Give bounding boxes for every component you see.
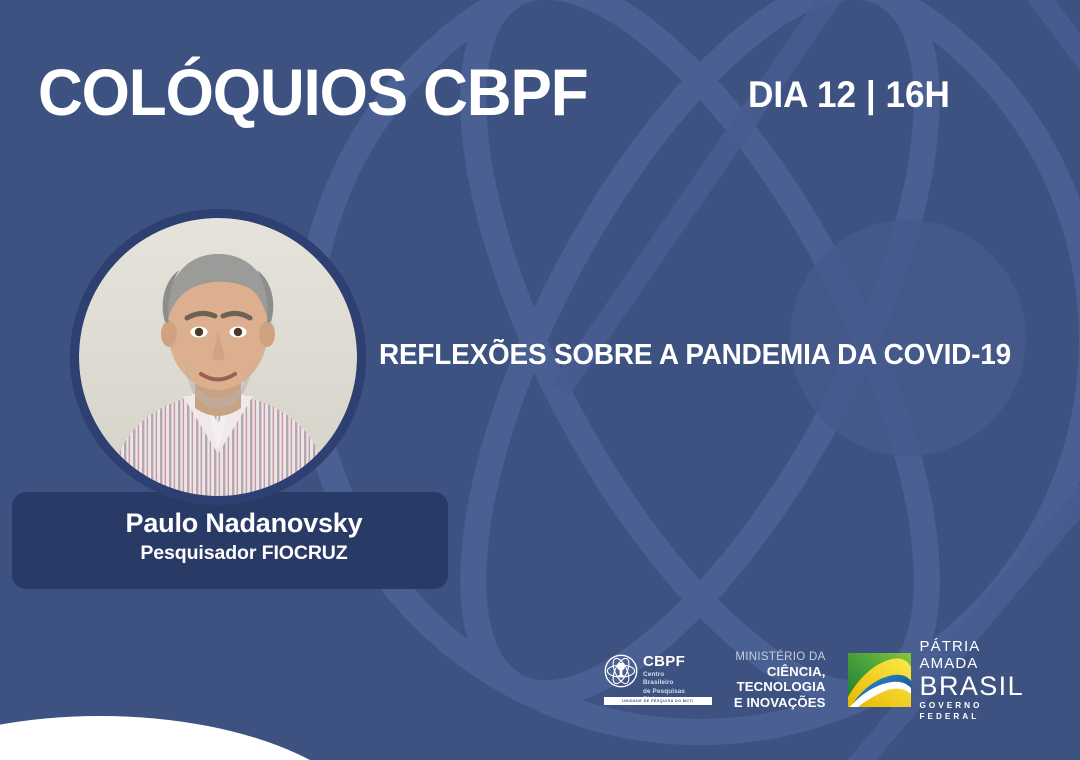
footer-logo-bar: CBPF Centro Brasileiro de Pesquisas Físi… [604,648,1024,712]
lecture-title: REFLEXÕES SOBRE A PANDEMIA DA COVID-19 [379,338,1038,372]
speaker-avatar [70,209,366,505]
brasil-government-logo: PÁTRIA AMADA BRASIL GOVERNO FEDERAL [848,651,1024,709]
cbpf-logo: CBPF Centro Brasileiro de Pesquisas Físi… [604,652,691,708]
brazil-flag-icon [848,653,911,707]
speaker-name: Paulo Nadanovsky [12,506,448,540]
brasil-line-1: PÁTRIA AMADA [920,638,1024,672]
brasil-wordmark: PÁTRIA AMADA BRASIL GOVERNO FEDERAL [920,638,1024,722]
cbpf-unit-text: UNIDADE DE PESQUISA DO MCTI [622,699,693,703]
ministry-line-3: E INOVAÇÕES [727,695,825,711]
ministry-line-1: MINISTÉRIO DA [727,650,825,664]
cbpf-wordmark: CBPF Centro Brasileiro de Pesquisas Físi… [643,652,691,703]
poster-canvas: COLÓQUIOS CBPF DIA 12 | 16H [0,0,1080,760]
page-title: COLÓQUIOS CBPF [38,56,587,128]
ministry-logo: MINISTÉRIO DA CIÊNCIA, TECNOLOGIA E INOV… [727,650,825,711]
event-date-badge: DIA 12 | 16H [748,74,950,116]
brasil-line-3: GOVERNO FEDERAL [920,700,1024,722]
brasil-line-2: BRASIL [920,672,1024,700]
avatar-ring [70,209,366,505]
speaker-name-plate: Paulo Nadanovsky Pesquisador FIOCRUZ [12,492,448,589]
bottom-curve-decoration [0,716,380,760]
header: COLÓQUIOS CBPF DIA 12 | 16H [0,0,1080,170]
cbpf-subtitle-line1: Centro Brasileiro [643,671,691,686]
poster-background: COLÓQUIOS CBPF DIA 12 | 16H [0,0,1080,760]
atom-globe-icon [604,654,638,688]
ministry-line-2: CIÊNCIA, TECNOLOGIA [727,664,825,695]
cbpf-acronym: CBPF [643,654,691,669]
cbpf-unit-banner: UNIDADE DE PESQUISA DO MCTI [604,697,712,705]
speaker-role: Pesquisador FIOCRUZ [12,540,448,566]
